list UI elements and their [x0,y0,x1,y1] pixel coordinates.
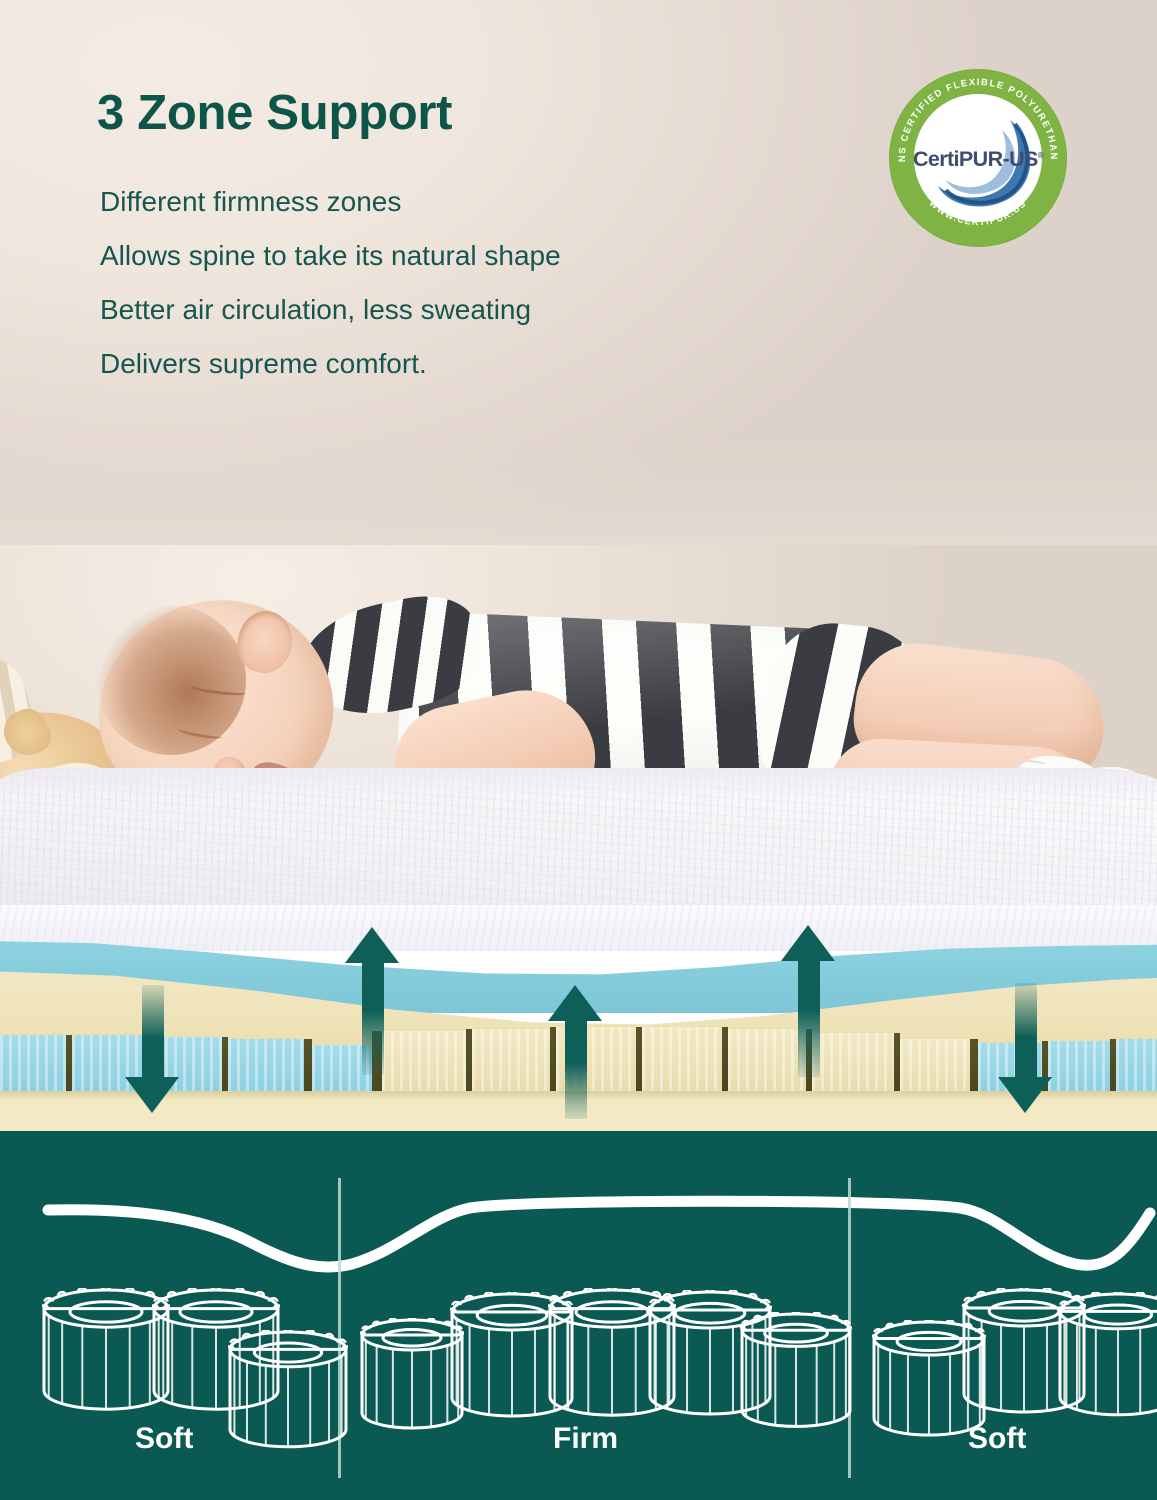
layer-green-base-trim [0,1131,1157,1138]
foam-column-gap [304,1039,312,1095]
hero-section: 3 Zone Support Different firmness zones … [0,0,1157,560]
foam-column [228,1039,304,1095]
page-title: 3 Zone Support [97,88,452,139]
feature-item: Better air circulation, less sweating [100,296,561,324]
foam-cylinder [360,1318,464,1432]
support-up-arrow-right [781,925,835,1077]
zone-label-soft-left: Soft [135,1422,193,1456]
infographic-page: 3 Zone Support Different firmness zones … [0,0,1157,1500]
pressure-down-arrow-left [125,985,179,1113]
foam-column-gap [970,1039,978,1095]
feature-item: Delivers supreme comfort. [100,350,561,378]
foam-cylinder [1058,1292,1157,1419]
zone-label-soft-right: Soft [968,1422,1026,1456]
support-up-arrow-center [548,985,602,1119]
badge-wordmark-text: CertiPUR-US [913,147,1038,171]
pressure-down-arrow-right [998,983,1052,1113]
foam-cylinder [740,1312,852,1430]
feature-item: Different firmness zones [100,188,561,216]
foam-column [642,1027,722,1095]
foam-cylinder [42,1288,170,1413]
foam-column [472,1029,550,1095]
foam-column [900,1039,970,1095]
support-up-arrow-left [345,927,399,1075]
spine-curve-line [0,1138,1157,1278]
feature-list: Different firmness zones Allows spine to… [100,188,561,404]
feature-item: Allows spine to take its natural shape [100,242,561,270]
badge-wordmark: CertiPUR-US® [889,147,1067,172]
foam-cylinder [228,1330,348,1451]
certipur-us-badge: CONTAINS CERTIFIED FLEXIBLE POLYURETHANE… [889,69,1067,247]
badge-trademark: ® [1038,151,1043,160]
mattress-surface [0,768,1157,910]
foam-column [1116,1039,1157,1095]
foam-column [0,1035,66,1095]
mattress-cross-section [0,905,1157,1138]
zone-label-firm: Firm [553,1422,618,1456]
layer-quilted-cover [0,905,1157,951]
zone-diagram-panel: Soft Firm Soft [0,1138,1157,1500]
baby-photo [0,545,1157,910]
foam-column [1048,1041,1110,1095]
